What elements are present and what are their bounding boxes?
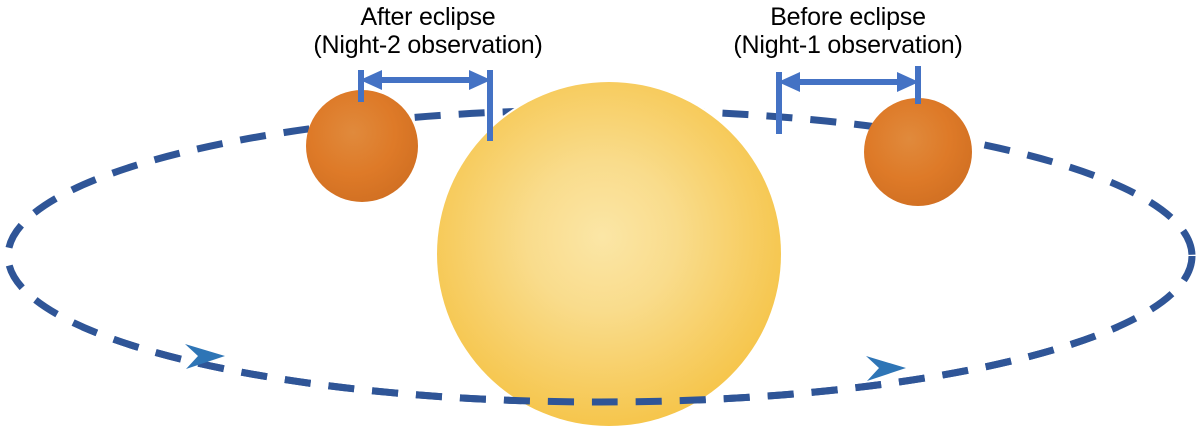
label-before-eclipse-line1: Before eclipse bbox=[698, 3, 998, 31]
diagram-canvas: After eclipse (Night-2 observation) Befo… bbox=[0, 0, 1200, 435]
label-after-eclipse-line2: (Night-2 observation) bbox=[278, 31, 578, 59]
label-before-eclipse: Before eclipse (Night-1 observation) bbox=[698, 3, 998, 59]
orbit-direction-arrow-right bbox=[866, 356, 906, 381]
planet-after-eclipse bbox=[306, 90, 418, 202]
label-before-eclipse-line2: (Night-1 observation) bbox=[698, 31, 998, 59]
label-after-eclipse: After eclipse (Night-2 observation) bbox=[278, 3, 578, 59]
planet-before-eclipse bbox=[864, 98, 972, 206]
orbit-diagram-svg bbox=[0, 0, 1200, 435]
label-after-eclipse-line1: After eclipse bbox=[278, 3, 578, 31]
